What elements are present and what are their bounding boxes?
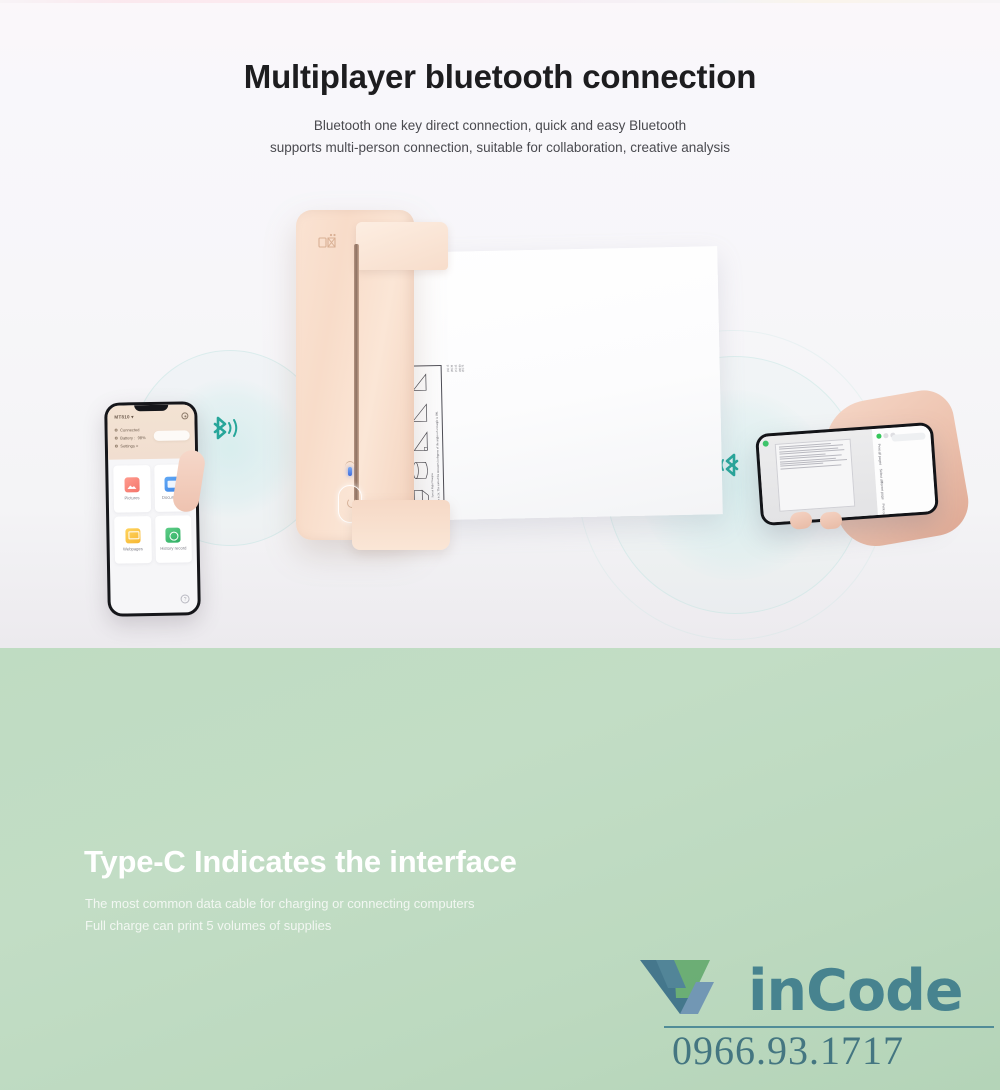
printer-paper-tray (352, 500, 450, 550)
settings-button[interactable] (891, 432, 925, 441)
document-question-1: 1. In the figure above, point P is on li… (447, 364, 505, 522)
app-status-connected-label: Connected (120, 427, 139, 432)
app-tile-history-label: History record (160, 545, 186, 550)
bluetooth-section-title: Multiplayer bluetooth connection (0, 58, 1000, 96)
menu-item-print-all[interactable]: Print all pages (877, 443, 882, 465)
document-preview-pane[interactable] (758, 429, 878, 523)
question-1-options: (A) 15 (B) 30 (C) 45 (D) 60 (E) 75 (447, 364, 500, 372)
printer-lid (356, 222, 448, 270)
picture-icon (124, 477, 139, 492)
menu-item-select-page[interactable]: Select different page (879, 468, 885, 499)
app-tile-pictures-label: Pictures (124, 495, 139, 500)
bluetooth-led-indicator (348, 467, 352, 476)
app-tile-webpages[interactable]: Webpages (114, 516, 151, 564)
phone-right-screen: Print all pages Select different page Pr… (758, 425, 936, 523)
app-tile-pictures[interactable]: Pictures (113, 465, 150, 513)
grey-dot-icon (883, 433, 888, 438)
typec-subtitle-line-2: Full charge can print 5 volumes of suppl… (85, 915, 474, 937)
watermark-brand: inCode (636, 958, 994, 1024)
app-header-card (154, 430, 190, 441)
typec-section-subtitle: The most common data cable for charging … (85, 893, 474, 937)
phone-notch (134, 405, 168, 412)
app-status-battery-value: 98% (138, 435, 146, 440)
status-dot-icon (115, 445, 118, 448)
app-status-settings-label: Settings > (120, 444, 138, 449)
app-status-battery-label: Battery : (120, 435, 135, 440)
green-dot-icon (876, 434, 881, 439)
bluetooth-section: Multiplayer bluetooth connection Bluetoo… (0, 0, 1000, 648)
bluetooth-icon-left (210, 415, 240, 446)
watermark-brand-text: inCode (748, 961, 963, 1021)
app-header: MT810 ▾ Connected Battery : 98% (107, 404, 195, 459)
document-preview-page (775, 439, 856, 512)
bluetooth-subtitle-line-1: Bluetooth one key direct connection, qui… (0, 115, 1000, 137)
printer-paper-slot (354, 244, 359, 524)
gear-icon[interactable] (181, 412, 188, 419)
bluetooth-section-subtitle: Bluetooth one key direct connection, qui… (0, 115, 1000, 159)
typec-subtitle-line-1: The most common data cable for charging … (85, 893, 474, 915)
bluetooth-subtitle-line-2: supports multi-person connection, suitab… (0, 137, 1000, 159)
app-tile-webpages-label: Webpages (123, 546, 143, 551)
typec-section-title: Type-C Indicates the interface (84, 844, 517, 880)
finger (789, 511, 813, 531)
browser-icon (125, 528, 140, 543)
status-dot-icon (115, 437, 118, 440)
product-marketing-page: Multiplayer bluetooth connection Bluetoo… (0, 0, 1000, 1090)
thermal-printer-device (296, 210, 414, 540)
finger (819, 511, 842, 530)
printer-brand-logo-icon (318, 232, 338, 252)
app-status-row-settings[interactable]: Settings > (115, 443, 188, 449)
phone-right: Print all pages Select different page Pr… (755, 422, 939, 526)
watermark-phone-number: 0966.93.1717 (672, 1028, 994, 1074)
status-dot-icon (115, 429, 118, 432)
history-icon (166, 527, 181, 542)
question-1-text: 1. In the figure above, point P is on li… (496, 377, 505, 522)
watermark: inCode 0966.93.1717 (636, 958, 994, 1074)
print-options-menu: Print all pages Select different page Pr… (872, 425, 936, 515)
app-device-selector[interactable]: MT810 ▾ (114, 413, 187, 420)
app-tile-history[interactable]: History record (155, 515, 192, 563)
help-icon[interactable]: ? (180, 594, 189, 603)
vincode-v-logo-icon (636, 958, 748, 1024)
